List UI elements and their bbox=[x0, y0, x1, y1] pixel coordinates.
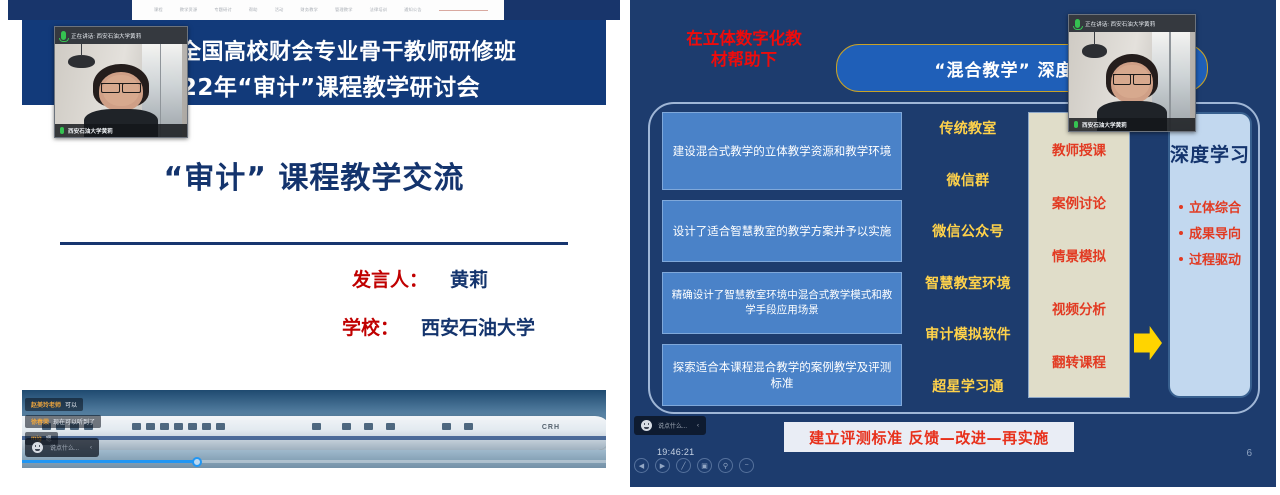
train-window bbox=[202, 423, 211, 430]
video-progress-bar[interactable] bbox=[22, 460, 606, 463]
red-heading: 在立体数字化教 材帮助下 bbox=[664, 28, 824, 70]
slide-divider-rule bbox=[60, 242, 568, 245]
emoji-icon[interactable] bbox=[32, 442, 43, 453]
browser-menu-item[interactable]: 管理教学 bbox=[335, 7, 353, 13]
browser-top-strip: 课程 教学资源 专题研讨 帮助 活动 财务教学 管理教学 法律培训 通知公告 bbox=[8, 0, 620, 20]
video-progress-fill bbox=[22, 460, 197, 463]
speaking-status-bar: 正在讲话: 西安石油大学黄莉 bbox=[55, 27, 187, 44]
pen-icon[interactable]: ╱ bbox=[676, 458, 691, 473]
speaker-video-thumbnail-right[interactable]: 正在讲话: 西安石油大学黄莉 西安石油大学黄莉 bbox=[1068, 14, 1196, 132]
chat-input-box[interactable]: 说点什么... ‹ bbox=[25, 438, 99, 457]
chat-input-box-right[interactable]: 说点什么... ‹ bbox=[634, 416, 706, 435]
train-photo: CRH 赵美玲老师 可以 徐春荣 现在可以听到了 mig 嗯 bbox=[22, 390, 606, 468]
browser-menu-item[interactable]: 专题研讨 bbox=[214, 7, 232, 13]
chat-message: 徐春荣 现在可以听到了 bbox=[25, 415, 101, 428]
process-box[interactable]: 探索适合本课程混合教学的案例教学及评测标准 bbox=[662, 344, 902, 406]
school-value: 西安石油大学 bbox=[421, 313, 535, 340]
train-window bbox=[216, 423, 225, 430]
browser-menu-item[interactable]: 活动 bbox=[275, 7, 284, 13]
lamp-icon bbox=[1082, 44, 1107, 58]
screenshot-root: 课程 教学资源 专题研讨 帮助 活动 财务教学 管理教学 法律培训 通知公告 第… bbox=[0, 0, 1280, 495]
chat-message: 赵美玲老师 可以 bbox=[25, 398, 83, 411]
train-window bbox=[386, 423, 395, 430]
slide-body: “审计” 课程教学交流 发言人： 黄莉 学校： 西安石油大学 bbox=[22, 105, 606, 390]
speaker-value: 黄莉 bbox=[450, 265, 488, 292]
play-icon[interactable]: ▶ bbox=[655, 458, 670, 473]
speaking-status-label: 正在讲话: 西安石油大学黄莉 bbox=[1085, 20, 1155, 28]
speaker-video-thumbnail[interactable]: 正在讲话: 西安石油大学黄莉 西安石油大学黄莉 bbox=[54, 26, 188, 138]
school-label: 学校： bbox=[342, 313, 399, 340]
chat-text: 可以 bbox=[65, 400, 77, 409]
glasses-icon bbox=[1113, 74, 1151, 82]
red-heading-line2: 材帮助下 bbox=[664, 49, 824, 70]
browser-menu-divider bbox=[439, 10, 488, 11]
train-carriage bbox=[22, 416, 606, 450]
bullet-dot-icon bbox=[1179, 205, 1183, 209]
deep-learning-bullets: 立体综合 成果导向 过程驱动 bbox=[1179, 197, 1241, 268]
train-window bbox=[442, 423, 451, 430]
chat-input-placeholder[interactable]: 说点什么... bbox=[658, 421, 687, 430]
tool-item: 微信公众号 bbox=[912, 221, 1024, 241]
train-window bbox=[132, 423, 141, 430]
participant-name-bar: 西安石油大学黄莉 bbox=[55, 124, 187, 137]
train-window bbox=[174, 423, 183, 430]
bullet-dot-icon bbox=[1179, 257, 1183, 261]
method-item: 情景模拟 bbox=[1052, 245, 1106, 265]
speaking-status-bar: 正在讲话: 西安石油大学黄莉 bbox=[1069, 15, 1195, 32]
player-toolbar: ◀ ▶ ╱ ▣ ⚲ − bbox=[634, 458, 754, 473]
deep-learning-title: 深度学习 bbox=[1170, 140, 1250, 167]
video-progress-handle[interactable] bbox=[192, 457, 202, 467]
microphone-icon bbox=[1074, 121, 1078, 128]
method-item: 翻转课程 bbox=[1052, 351, 1106, 371]
video-feed: 西安石油大学黄莉 bbox=[1069, 32, 1195, 131]
method-item: 教师授课 bbox=[1052, 139, 1106, 159]
tools-column: 传统教室 微信群 微信公众号 智慧教室环境 审计模拟软件 超星学习通 bbox=[912, 112, 1024, 402]
method-item: 案例讨论 bbox=[1052, 192, 1106, 212]
bottom-banner: 建立评测标准 反馈—改进—再实施 bbox=[784, 422, 1074, 452]
zoom-icon[interactable]: ⚲ bbox=[718, 458, 733, 473]
bullet-item: 立体综合 bbox=[1179, 197, 1241, 216]
browser-menu-item[interactable]: 教学资源 bbox=[180, 7, 198, 13]
train-window bbox=[464, 423, 473, 430]
prev-icon[interactable]: ◀ bbox=[634, 458, 649, 473]
browser-menu-bar[interactable]: 课程 教学资源 专题研讨 帮助 活动 财务教学 管理教学 法律培训 通知公告 bbox=[132, 0, 504, 20]
process-box[interactable]: 建设混合式教学的立体教学资源和教学环境 bbox=[662, 112, 902, 190]
participant-name-label: 西安石油大学黄莉 bbox=[1082, 121, 1127, 129]
speaking-status-label: 正在讲话: 西安石油大学黄莉 bbox=[71, 32, 141, 40]
train-window bbox=[160, 423, 169, 430]
tool-item: 超星学习通 bbox=[912, 376, 1024, 396]
page-number: 6 bbox=[1246, 448, 1252, 459]
chevron-right-icon[interactable]: ‹ bbox=[697, 423, 699, 429]
train-window bbox=[312, 423, 321, 430]
right-presentation-panel: 在立体数字化教 材帮助下 “混合教学” 深度学习 建设混合式教学的立体教学资源和… bbox=[630, 0, 1276, 487]
stamp-icon[interactable]: ▣ bbox=[697, 458, 712, 473]
slide-main-title: “审计” 课程教学交流 bbox=[22, 153, 606, 197]
browser-menu-item[interactable]: 课程 bbox=[154, 7, 163, 13]
glasses-icon bbox=[101, 83, 141, 91]
bullet-item: 过程驱动 bbox=[1179, 249, 1241, 268]
school-row: 学校： 西安石油大学 bbox=[342, 313, 535, 340]
bullet-label: 过程驱动 bbox=[1189, 249, 1241, 268]
deep-learning-box: 深度学习 立体综合 成果导向 过程驱动 bbox=[1168, 112, 1252, 398]
browser-menu-item[interactable]: 法律培训 bbox=[370, 7, 388, 13]
minus-icon[interactable]: − bbox=[739, 458, 754, 473]
diagram-container: 建设混合式教学的立体教学资源和教学环境 设计了适合智慧教室的教学方案并予以实施 … bbox=[648, 102, 1260, 414]
participant-name-bar: 西安石油大学黄莉 bbox=[1069, 118, 1195, 131]
participant-name-label: 西安石油大学黄莉 bbox=[68, 127, 113, 135]
emoji-icon[interactable] bbox=[641, 420, 652, 431]
microphone-icon bbox=[1075, 19, 1080, 28]
chat-input-placeholder[interactable]: 说点什么... bbox=[50, 443, 79, 452]
process-box[interactable]: 设计了适合智慧教室的教学方案并予以实施 bbox=[662, 200, 902, 262]
bullet-label: 立体综合 bbox=[1189, 197, 1241, 216]
browser-menu-item[interactable]: 帮助 bbox=[249, 7, 258, 13]
microphone-icon bbox=[60, 127, 64, 134]
methods-column: 教师授课 案例讨论 情景模拟 视频分析 翻转课程 bbox=[1028, 112, 1130, 398]
microphone-icon bbox=[61, 31, 66, 40]
chat-user: 徐春荣 bbox=[31, 417, 49, 426]
bullet-item: 成果导向 bbox=[1179, 223, 1241, 242]
photo-ground bbox=[22, 450, 606, 468]
train-window bbox=[188, 423, 197, 430]
tool-item: 审计模拟软件 bbox=[912, 324, 1024, 344]
video-feed: 西安石油大学黄莉 bbox=[55, 44, 187, 137]
bullet-label: 成果导向 bbox=[1189, 223, 1241, 242]
chat-user: 赵美玲老师 bbox=[31, 400, 61, 409]
red-heading-line1: 在立体数字化教 bbox=[664, 28, 824, 49]
left-box-column: 建设混合式教学的立体教学资源和教学环境 设计了适合智慧教室的教学方案并予以实施 … bbox=[662, 112, 902, 406]
browser-menu-item[interactable]: 财务教学 bbox=[300, 7, 318, 13]
process-box[interactable]: 精确设计了智慧教室环境中混合式教学模式和教学手段应用场景 bbox=[662, 272, 902, 334]
tool-item: 微信群 bbox=[912, 170, 1024, 190]
browser-menu-item[interactable]: 通知公告 bbox=[404, 7, 422, 13]
tool-item: 传统教室 bbox=[912, 118, 1024, 138]
train-window bbox=[364, 423, 373, 430]
train-crh-marking: CRH bbox=[542, 424, 560, 431]
arrow-right-icon bbox=[1134, 326, 1162, 360]
speaker-row: 发言人： 黄莉 bbox=[352, 265, 488, 292]
train-window bbox=[342, 423, 351, 430]
chat-text: 现在可以听到了 bbox=[53, 417, 95, 426]
method-item: 视频分析 bbox=[1052, 298, 1106, 318]
lamp-icon bbox=[68, 55, 94, 68]
bullet-dot-icon bbox=[1179, 231, 1183, 235]
train-window bbox=[146, 423, 155, 430]
left-video-panel: 课程 教学资源 专题研讨 帮助 活动 财务教学 管理教学 法律培训 通知公告 第… bbox=[8, 0, 620, 487]
train-stripe bbox=[22, 436, 606, 440]
chevron-right-icon[interactable]: ‹ bbox=[90, 445, 92, 451]
clock-label: 19:46:21 bbox=[657, 447, 694, 457]
tool-item: 智慧教室环境 bbox=[912, 273, 1024, 293]
speaker-label: 发言人： bbox=[352, 265, 428, 292]
